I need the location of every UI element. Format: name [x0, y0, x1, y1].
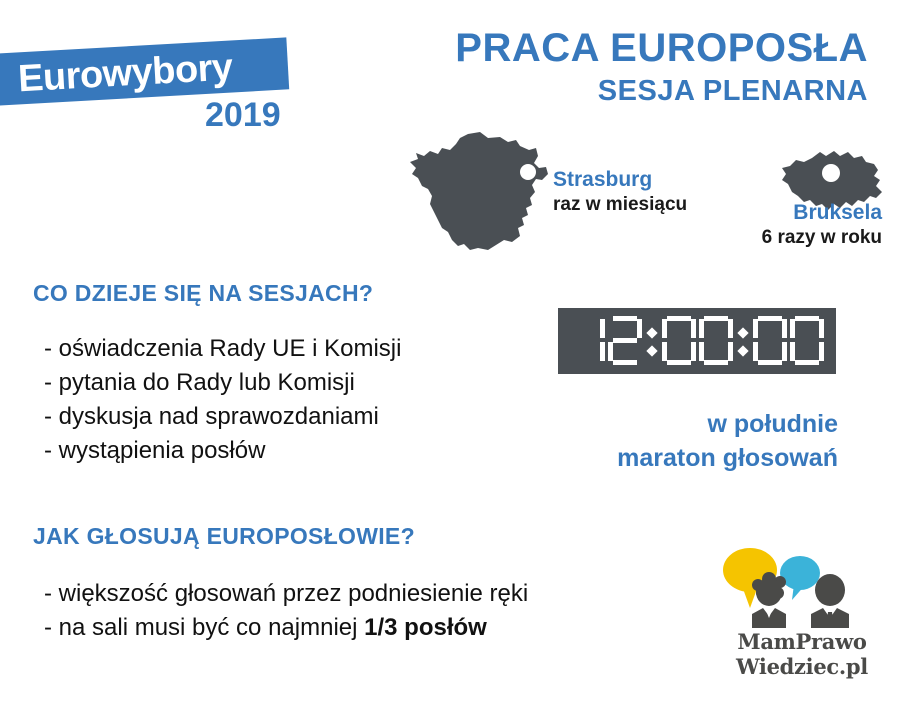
person-figure-icon	[752, 572, 786, 628]
bruksela-label: Bruksela 6 razy w roku	[762, 201, 882, 249]
clock-digit	[571, 316, 605, 366]
brand-figures-icon	[712, 548, 892, 628]
list-item-text: - na sali musi być co najmniej	[44, 614, 364, 641]
list-item: - dyskusja nad sprawozdaniami	[44, 400, 401, 434]
strasburg-label: Strasburg raz w miesiącu	[553, 168, 687, 216]
list-item-emphasis: 1/3 posłów	[364, 614, 487, 641]
list-item: - oświadczenia Rady UE i Komisji	[44, 332, 401, 366]
clock-caption-line1: w południe	[617, 408, 838, 442]
list-item: - na sali musi być co najmniej 1/3 posłó…	[44, 611, 528, 645]
brand-name-line2: Wiedziec.pl	[712, 655, 892, 680]
city-name-bruksela: Bruksela	[762, 201, 882, 226]
eurowybory-logo: Eurowybory 2019	[0, 0, 370, 140]
brand-name: MamPrawo Wiedziec.pl	[712, 630, 892, 680]
infographic-canvas: Eurowybory 2019 PRACA EUROPOSŁA SESJA PL…	[0, 0, 900, 705]
clock-digit	[608, 316, 642, 366]
mampraowiedziec-logo-icon[interactable]: MamPrawo Wiedziec.pl	[712, 548, 892, 693]
header: PRACA EUROPOSŁA SESJA PLENARNA	[455, 26, 868, 107]
section-heading-sessions: CO DZIEJE SIĘ NA SESJACH?	[33, 280, 373, 307]
city-frequency-bruksela: 6 razy w roku	[762, 227, 882, 249]
france-map-icon	[408, 132, 553, 252]
page-title: PRACA EUROPOSŁA	[455, 26, 868, 71]
clock-digit	[753, 316, 787, 366]
speech-bubble-blue-icon	[780, 556, 820, 600]
clock-caption: w południe maraton głosowań	[617, 408, 838, 476]
logo-year: 2019	[205, 98, 281, 132]
list-item: - pytania do Rady lub Komisji	[44, 366, 401, 400]
digital-clock-icon	[558, 308, 836, 374]
clock-digit	[790, 316, 824, 366]
city-name-strasburg: Strasburg	[553, 168, 687, 193]
clock-caption-line2: maraton głosowań	[617, 442, 838, 476]
list-item: - wystąpienia posłów	[44, 434, 401, 468]
clock-colon	[645, 316, 659, 366]
maps-row: Strasburg raz w miesiącu Bruksela 6 razy…	[0, 128, 900, 263]
voting-list: - większość głosowań przez podniesienie …	[44, 577, 528, 645]
section-heading-voting: JAK GŁOSUJĄ EUROPOSŁOWIE?	[33, 523, 415, 550]
list-item: - większość głosowań przez podniesienie …	[44, 577, 528, 611]
city-frequency-strasburg: raz w miesiącu	[553, 194, 687, 216]
clock-digit	[662, 316, 696, 366]
page-subtitle: SESJA PLENARNA	[455, 75, 868, 107]
sessions-list: - oświadczenia Rady UE i Komisji - pytan…	[44, 332, 401, 468]
clock-digit	[699, 316, 733, 366]
city-marker-dot	[520, 164, 536, 180]
city-marker-dot	[822, 164, 840, 182]
brand-name-line1: MamPrawo	[712, 630, 892, 655]
clock-colon	[736, 316, 750, 366]
